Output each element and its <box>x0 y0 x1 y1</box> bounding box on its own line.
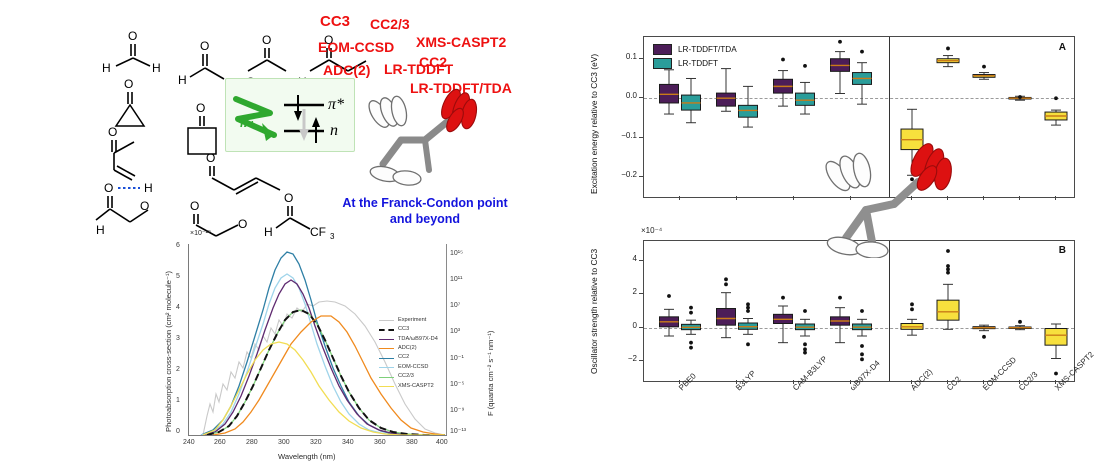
spectrum-y2tick-5: 10⁻⁵ <box>450 380 464 388</box>
legend-label-cc3: CC3 <box>398 327 409 333</box>
legend-swatch-tda-wb97xd4 <box>379 339 394 340</box>
spectrum-xtick-240: 240 <box>183 439 195 446</box>
spectrum-xtick-280: 280 <box>246 439 258 446</box>
molecule-formaldehyde: O H H <box>100 28 166 76</box>
spectrum-xtick-300: 300 <box>278 439 290 446</box>
legend-label-xms-caspt2: XMS-CASPT2 <box>398 384 434 390</box>
panel-a-ytick-2: −0.1 <box>603 131 637 140</box>
svg-text:O: O <box>128 29 137 43</box>
spectrum-ytick-6: 6 <box>176 242 180 249</box>
svg-text:O: O <box>108 125 117 139</box>
legend-label-tda-wb97xd4: TDA/ωB97X-D4 <box>398 337 438 343</box>
toc-caption: At the Franck-Condon point and beyond <box>330 196 520 227</box>
xtick-mark <box>911 380 912 384</box>
xtick-mark <box>736 380 737 384</box>
spectrum-ytick-1: 1 <box>176 397 180 404</box>
legend-label-lr-tddft-tda: LR-TDDFT/TDA <box>678 45 737 54</box>
svg-text:O: O <box>262 33 271 47</box>
xtick-mark <box>850 380 851 384</box>
xtick-mark <box>679 380 680 384</box>
legend-swatch-cc2 <box>379 358 394 359</box>
method-label-eom-ccsd: EOM-CCSD <box>318 40 394 55</box>
spectrum-ytick-4: 4 <box>176 304 180 311</box>
xtick-mark <box>736 196 737 200</box>
spectrum-y2tick-6: 10⁻⁹ <box>450 406 464 414</box>
ytick-mark <box>639 176 643 177</box>
spectrum-ytick-0: 0 <box>176 428 180 435</box>
molecule-methyl-vinyl-ketone: O <box>98 122 168 184</box>
ytick-mark <box>639 137 643 138</box>
legend-item-cc2: CC2 <box>379 354 438 363</box>
molecule-acetone: O <box>238 30 298 76</box>
molecule-3d-render-toc <box>355 78 485 195</box>
panel-b-y-exponent: ×10⁻⁴ <box>641 226 662 235</box>
spectrum-xtick-260: 260 <box>214 439 226 446</box>
spectrum-yaxis-title: Photoabsorption cross-section (cm² molec… <box>164 271 173 432</box>
spectrum-y2tick-7: 10⁻¹³ <box>450 427 466 435</box>
svg-text:O: O <box>124 77 133 91</box>
photoabsorption-spectrum-chart: ×10⁻²⁰ <box>150 228 510 469</box>
spectrum-y2tick-0: 10¹⁵ <box>450 250 463 257</box>
method-label-lr-tddft: LR-TDDFT <box>384 62 453 77</box>
legend-swatch-eom-ccsd <box>379 367 394 368</box>
svg-text:O: O <box>196 101 205 115</box>
graphical-abstract-panel: O H H O H O O <box>0 0 560 469</box>
legend-swatch-lr-tddft-tda <box>653 44 672 55</box>
spectrum-y2tick-4: 10⁻¹ <box>450 354 464 362</box>
spectrum-y-exponent: ×10⁻²⁰ <box>190 229 211 237</box>
legend-label-adc2: ADC(2) <box>398 346 417 352</box>
ytick-mark <box>639 58 643 59</box>
panel-b-ytick-2: 0 <box>603 321 637 330</box>
spectrum-right-axis <box>446 244 447 435</box>
panel-a-yaxis-title: Excitation energy relative to CC3 (eV) <box>589 54 599 194</box>
xtick-mark <box>947 380 948 384</box>
molecule-3d-render-center <box>810 138 960 263</box>
svg-text:H: H <box>178 73 187 87</box>
spectrum-ytick-2: 2 <box>176 366 180 373</box>
svg-text:O: O <box>190 199 199 213</box>
svg-text:O: O <box>140 199 149 213</box>
spectrum-y2axis-title: F (quanta cm⁻² s⁻¹ nm⁻¹) <box>486 331 495 416</box>
ytick-mark <box>639 260 643 261</box>
legend-label-cc2: CC2 <box>398 355 409 361</box>
panel-b-yaxis-title: Oscillator strength relative to CC3 <box>589 249 599 374</box>
legend-item-experiment: Experiment <box>379 316 438 325</box>
spectrum-xtick-400: 400 <box>436 439 448 446</box>
spectrum-ytick-5: 5 <box>176 273 180 280</box>
svg-text:O: O <box>200 39 209 53</box>
legend-item-cc23: CC2/3 <box>379 372 438 381</box>
photon-label-hv: hv <box>240 115 253 131</box>
legend-item-lr-tddft-tda: LR-TDDFT/TDA <box>653 44 737 55</box>
svg-text:H: H <box>102 61 111 75</box>
spectrum-xtick-320: 320 <box>310 439 322 446</box>
spectrum-ytick-3: 3 <box>176 335 180 342</box>
xtick-mark <box>983 380 984 384</box>
spectrum-y2tick-3: 10³ <box>450 328 460 335</box>
panel-b-ytick-3: −2 <box>603 354 637 363</box>
ytick-mark <box>639 360 643 361</box>
xtick-mark <box>1019 380 1020 384</box>
method-label-cc23: CC2/3 <box>370 17 410 32</box>
svg-text:O: O <box>104 181 113 195</box>
legend-label-lr-tddft: LR-TDDFT <box>678 59 718 68</box>
xtick-mark <box>679 196 680 200</box>
legend-label-eom-ccsd: EOM-CCSD <box>398 365 428 371</box>
level-label-pi-star: π* <box>328 96 344 114</box>
legend-swatch-xms-caspt2 <box>379 386 394 387</box>
legend-swatch-adc2 <box>379 348 394 349</box>
xtick-mark <box>983 196 984 200</box>
panel-a-ytick-0: 0.1 <box>603 52 637 61</box>
legend-swatch-cc23 <box>379 377 394 378</box>
boxfig-legend: LR-TDDFT/TDA LR-TDDFT <box>653 44 737 72</box>
xtick-mark <box>793 196 794 200</box>
svg-text:H: H <box>96 223 105 237</box>
spectrum-y2tick-1: 10¹¹ <box>450 276 462 283</box>
spectrum-xtick-340: 340 <box>342 439 354 446</box>
legend-swatch-lr-tddft <box>653 58 672 69</box>
legend-label-experiment: Experiment <box>398 318 426 324</box>
ytick-mark <box>639 327 643 328</box>
boxplot-figure: A 0.10.0−0.1−0.2 Excitation energy relat… <box>575 8 1110 463</box>
legend-item-tda-wb97xd4: TDA/ωB97X-D4 <box>379 335 438 344</box>
legend-item-xms-caspt2: XMS-CASPT2 <box>379 382 438 391</box>
panel-b-ytick-0: 4 <box>603 254 637 263</box>
panel-a-ytick-1: 0.0 <box>603 91 637 100</box>
spectrum-y2tick-2: 10⁷ <box>450 302 460 309</box>
panel-b-ytick-1: 2 <box>603 287 637 296</box>
svg-text:O: O <box>206 151 215 165</box>
xtick-mark <box>793 380 794 384</box>
spectrum-plot-area: Experiment CC3 TDA/ωB97X-D4 ADC(2) CC2 E… <box>188 244 447 436</box>
method-label-cc3: CC3 <box>320 14 350 30</box>
spectrum-legend: Experiment CC3 TDA/ωB97X-D4 ADC(2) CC2 E… <box>379 316 438 391</box>
legend-label-cc23: CC2/3 <box>398 374 414 380</box>
xtick-mark <box>1019 196 1020 200</box>
spectrum-xtick-360: 360 <box>374 439 386 446</box>
spectrum-xaxis-title: Wavelength (nm) <box>278 452 336 461</box>
ytick-mark <box>639 293 643 294</box>
xtick-mark <box>1055 196 1056 200</box>
legend-item-eom-ccsd: EOM-CCSD <box>379 363 438 372</box>
panel-a-tag: A <box>1059 42 1066 53</box>
svg-text:H: H <box>144 181 153 195</box>
excitation-diagram-box: π* n hv <box>225 78 355 152</box>
legend-swatch-cc3 <box>379 329 394 331</box>
legend-swatch-experiment <box>379 320 394 321</box>
panel-a-ytick-3: −0.2 <box>603 170 637 179</box>
legend-item-adc2: ADC(2) <box>379 344 438 353</box>
method-label-adc2: ADC(2) <box>323 63 370 78</box>
svg-text:H: H <box>152 61 161 75</box>
legend-item-lr-tddft: LR-TDDFT <box>653 58 737 69</box>
level-label-n: n <box>330 122 338 140</box>
spectrum-xtick-380: 380 <box>406 439 418 446</box>
method-label-xms-caspt2: XMS-CASPT2 <box>416 35 506 50</box>
xtick-mark <box>1055 380 1056 384</box>
ytick-mark <box>639 97 643 98</box>
panel-b-tag: B <box>1059 245 1066 256</box>
legend-item-cc3: CC3 <box>379 325 438 334</box>
svg-text:O: O <box>284 191 293 205</box>
